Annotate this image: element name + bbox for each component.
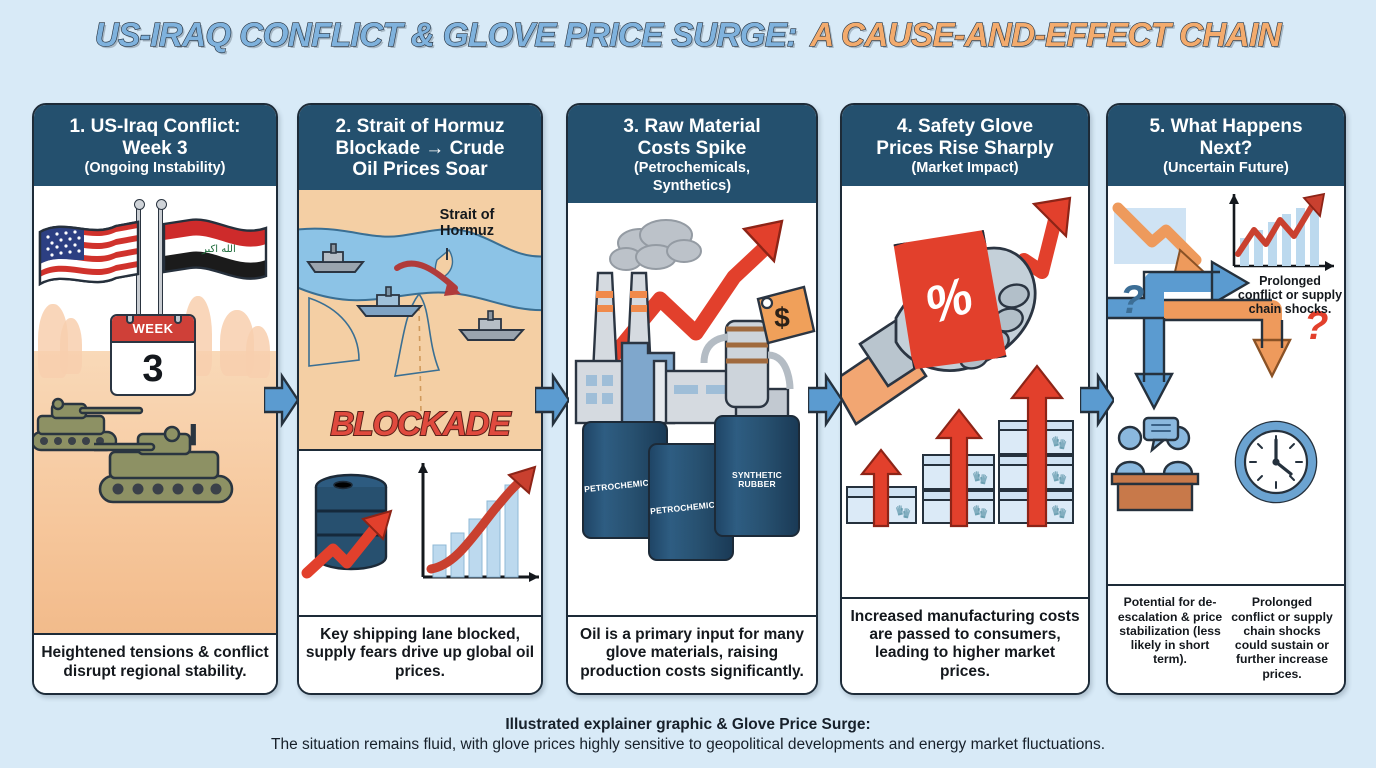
svg-text:$: $	[774, 302, 790, 333]
glove-box-lid	[1040, 457, 1072, 467]
strait-map: Strait of Hormuz	[299, 190, 541, 449]
glove-box	[922, 454, 957, 490]
panel-5-illustration: ? ? Prolonged conflict or supply chain s…	[1108, 186, 1344, 585]
us-flag	[38, 216, 142, 294]
glove-box	[846, 486, 879, 524]
panel-5-title-line1: 5. What Happens	[1114, 116, 1338, 138]
panel-1-illustration: الله اكبر WEEK 3	[34, 186, 276, 634]
panel-4-header: 4. Safety Glove Prices Rise Sharply (Mar…	[842, 105, 1088, 186]
panel-3-title-line1: 3. Raw Material	[574, 116, 810, 138]
glove-icon: 🧤	[1051, 435, 1067, 451]
panel-1-subtitle: (Ongoing Instability)	[40, 160, 270, 176]
glove-box-lid	[848, 488, 877, 499]
glove-icon: 🧤	[1051, 504, 1067, 520]
arrow-4-to-5	[1080, 372, 1114, 428]
glove-box: 🧤	[1038, 455, 1074, 490]
panel-3-title-line2: Costs Spike	[574, 138, 810, 160]
title-primary: US-IRAQ CONFLICT & GLOVE PRICE SURGE:	[95, 16, 797, 53]
panel-4-caption: Increased manufacturing costs are passed…	[842, 597, 1088, 693]
infographic-root: US-IRAQ CONFLICT & GLOVE PRICE SURGE: A …	[0, 0, 1376, 768]
panel-1-us-iraq-conflict[interactable]: 1. US-Iraq Conflict: Week 3 (Ongoing Ins…	[32, 103, 278, 695]
panel-5-title-line2: Next?	[1114, 138, 1338, 160]
panel-3-subtitle-line2: Synthetics)	[574, 178, 810, 194]
page-title: US-IRAQ CONFLICT & GLOVE PRICE SURGE: A …	[0, 16, 1376, 54]
panel-4-subtitle: (Market Impact)	[848, 160, 1082, 176]
panel-3-subtitle-line1: (Petrochemicals,	[574, 160, 810, 176]
panel-2-illustration: Strait of Hormuz	[299, 190, 541, 615]
glove-box-lid	[962, 492, 993, 502]
glove-box	[922, 490, 957, 524]
panel-2-title-line3: Oil Prices Soar	[305, 159, 535, 181]
footer-line-1: Illustrated explainer graphic & Glove Pr…	[0, 716, 1376, 734]
flame-shape	[60, 318, 82, 374]
glove-box-lid	[1000, 492, 1032, 502]
panel-2-caption: Key shipping lane blocked, supply fears …	[299, 615, 541, 693]
outcome-2-text: Prolonged conflict or supply chain shock…	[1226, 595, 1338, 681]
panel-4-illustration: % 🧤 🧤	[842, 186, 1088, 597]
barrel-synthetic-rubber: SYNTHETIC RUBBER	[714, 415, 800, 537]
glove-box-lid	[1000, 422, 1032, 432]
footer-note: Illustrated explainer graphic & Glove Pr…	[0, 716, 1376, 754]
title-accent: A CAUSE-AND-EFFECT CHAIN	[810, 16, 1281, 53]
panel-3-header: 3. Raw Material Costs Spike (Petrochemic…	[568, 105, 816, 203]
panel-4-title-line2: Prices Rise Sharply	[848, 138, 1082, 160]
calendar-ring	[126, 314, 134, 324]
percent-symbol: %	[918, 265, 981, 336]
panel-5-what-happens-next[interactable]: 5. What Happens Next? (Uncertain Future)	[1106, 103, 1346, 695]
outcome-1-text: Potential for de-escalation & price stab…	[1114, 595, 1226, 681]
glove-box-lid	[886, 488, 915, 499]
calendar-day-number: 3	[112, 343, 194, 395]
glove-box-lid	[1040, 422, 1072, 432]
glove-box: 🧤	[960, 454, 995, 490]
glove-box-lid	[924, 492, 955, 502]
panel-2-title-line2: Blockade → Crude	[305, 138, 535, 160]
glove-box: 🧤	[1038, 420, 1074, 455]
glove-box	[998, 455, 1034, 490]
strait-of-hormuz-label: Strait of Hormuz	[417, 208, 517, 240]
tank-icon	[94, 424, 264, 516]
panel-3-caption: Oil is a primary input for many glove ma…	[568, 615, 816, 693]
flame-shape	[246, 326, 270, 378]
svg-text:الله اكبر: الله اكبر	[201, 244, 236, 255]
panel-1-caption: Heightened tensions & conflict disrupt r…	[34, 633, 276, 693]
glove-box: 🧤	[1038, 490, 1074, 524]
panel-1-title-line1: 1. US-Iraq Conflict:	[40, 116, 270, 138]
glove-icon: 🧤	[972, 504, 988, 520]
panel-4-glove-prices-rise[interactable]: 4. Safety Glove Prices Rise Sharply (Mar…	[840, 103, 1090, 695]
warship-icon	[355, 284, 425, 318]
strait-label-line1: Strait of	[440, 207, 495, 223]
strait-label-line2: Hormuz	[440, 223, 494, 239]
glove-icon: 🧤	[972, 470, 988, 486]
blockade-text: BLOCKADE	[299, 405, 541, 443]
glove-box: 🧤	[884, 486, 917, 524]
glove-box-lid	[1000, 457, 1032, 467]
panel-5-caption: Potential for de-escalation & price stab…	[1108, 584, 1344, 693]
panel-3-illustration: $ PETROCHEMICALS PETROCHEMICALS SYNTHETI…	[568, 203, 816, 615]
panel-4-title-line1: 4. Safety Glove	[848, 116, 1082, 138]
panel-5-header: 5. What Happens Next? (Uncertain Future)	[1108, 105, 1344, 186]
glove-box-lid	[924, 456, 955, 466]
glove-box	[998, 490, 1034, 524]
glove-box-lid	[1040, 492, 1072, 502]
branch-outcome-label: Prolonged conflict or supply chain shock…	[1236, 274, 1344, 316]
arrow-1-to-2	[264, 372, 298, 428]
question-mark-blue: ?	[1120, 278, 1144, 323]
oil-price-illustration	[299, 449, 541, 615]
iraq-flag: الله اكبر	[162, 214, 270, 296]
panel-1-header: 1. US-Iraq Conflict: Week 3 (Ongoing Ins…	[34, 105, 276, 186]
arrow-3-to-4	[808, 372, 842, 428]
barrel-label: SYNTHETIC RUBBER	[716, 471, 798, 489]
panel-1-title-line2: Week 3	[40, 138, 270, 160]
glove-icon: 🧤	[895, 504, 911, 520]
panel-2-header: 2. Strait of Hormuz Blockade → Crude Oil…	[299, 105, 541, 190]
panel-3-raw-material-costs[interactable]: 3. Raw Material Costs Spike (Petrochemic…	[566, 103, 818, 695]
glove-box	[998, 420, 1034, 455]
footer-line-2: The situation remains fluid, with glove …	[0, 736, 1376, 754]
panel-2-strait-of-hormuz[interactable]: 2. Strait of Hormuz Blockade → Crude Oil…	[297, 103, 543, 695]
glove-box-lid	[962, 456, 993, 466]
panel-5-subtitle: (Uncertain Future)	[1114, 160, 1338, 176]
glove-box: 🧤	[960, 490, 995, 524]
calendar-ring	[174, 314, 182, 324]
calendar-week-3: WEEK 3	[110, 314, 196, 396]
warship-icon	[305, 242, 367, 274]
glove-icon: 🧤	[1051, 470, 1067, 486]
warship-icon	[457, 308, 527, 342]
arrow-2-to-3	[535, 372, 569, 428]
panel-2-title-line1: 2. Strait of Hormuz	[305, 116, 535, 138]
